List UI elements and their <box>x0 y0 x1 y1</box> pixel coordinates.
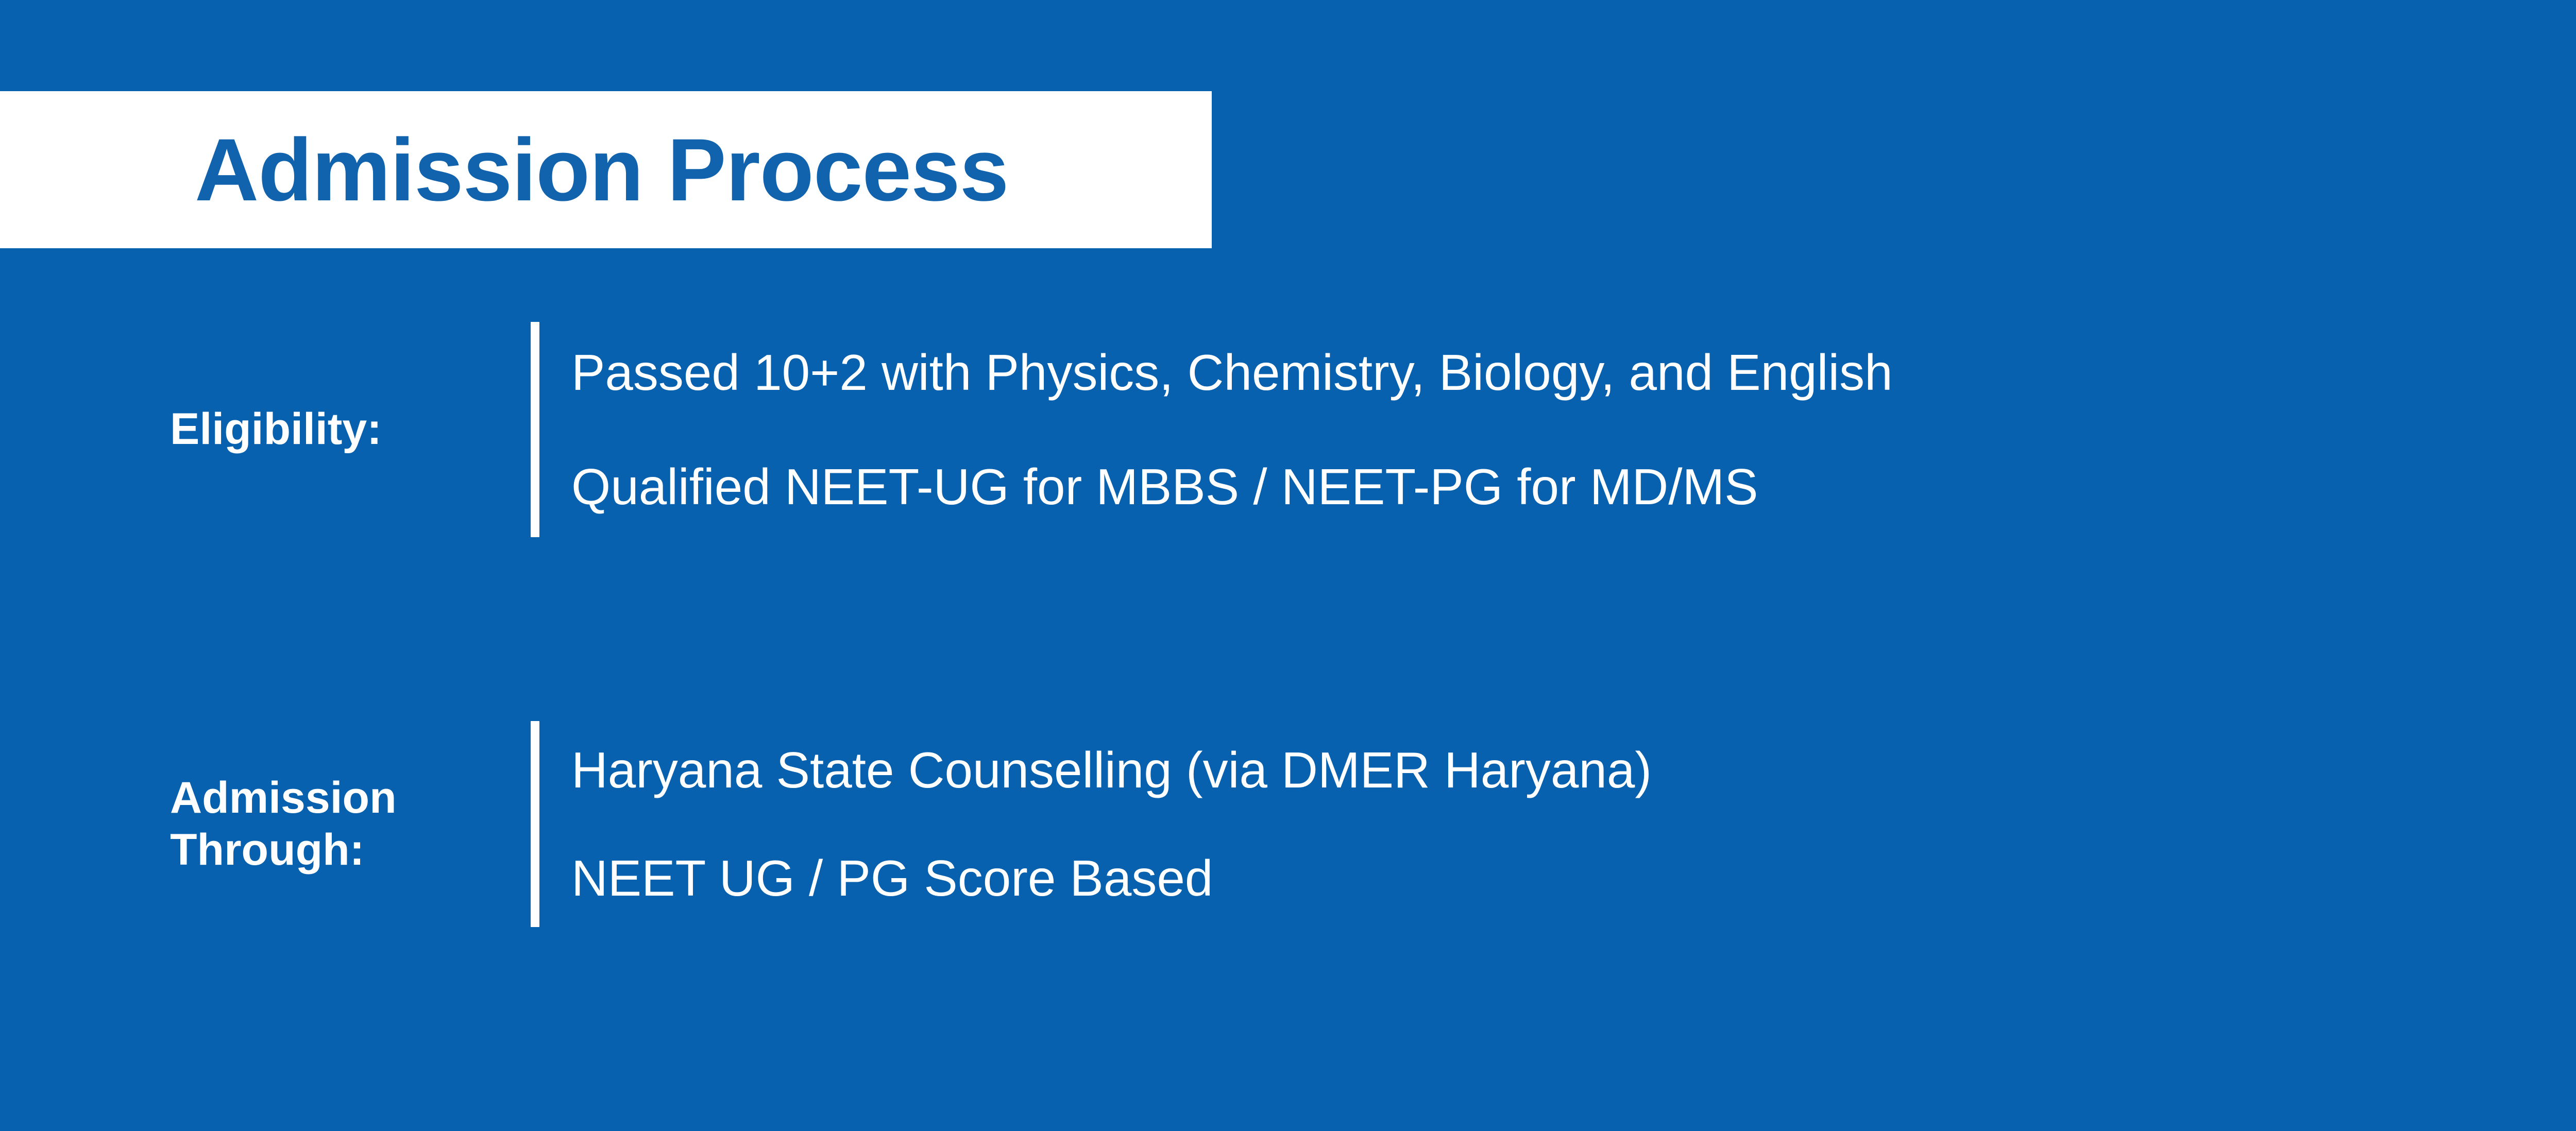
eligibility-divider <box>531 322 539 537</box>
eligibility-line-1: Passed 10+2 with Physics, Chemistry, Bio… <box>571 347 1893 398</box>
student-photo <box>2446 0 2576 1131</box>
title-plate: Admission Process <box>0 91 1212 248</box>
admission-through-label: Admission Through: <box>0 772 531 877</box>
admission-through-line-2: NEET UG / PG Score Based <box>571 853 1652 903</box>
admission-process-banner: Admission Process Eligibility: Passed 10… <box>0 0 2576 1131</box>
eligibility-row: Eligibility: Passed 10+2 with Physics, C… <box>0 322 1893 537</box>
eligibility-label: Eligibility: <box>0 403 531 455</box>
eligibility-lines: Passed 10+2 with Physics, Chemistry, Bio… <box>539 347 1893 512</box>
page-title: Admission Process <box>195 126 1008 214</box>
admission-through-divider <box>531 721 539 927</box>
admission-through-line-1: Haryana State Counselling (via DMER Hary… <box>571 745 1652 795</box>
admission-through-row: Admission Through: Haryana State Counsel… <box>0 721 1652 927</box>
admission-through-lines: Haryana State Counselling (via DMER Hary… <box>539 745 1652 903</box>
eligibility-line-2: Qualified NEET-UG for MBBS / NEET-PG for… <box>571 461 1893 512</box>
